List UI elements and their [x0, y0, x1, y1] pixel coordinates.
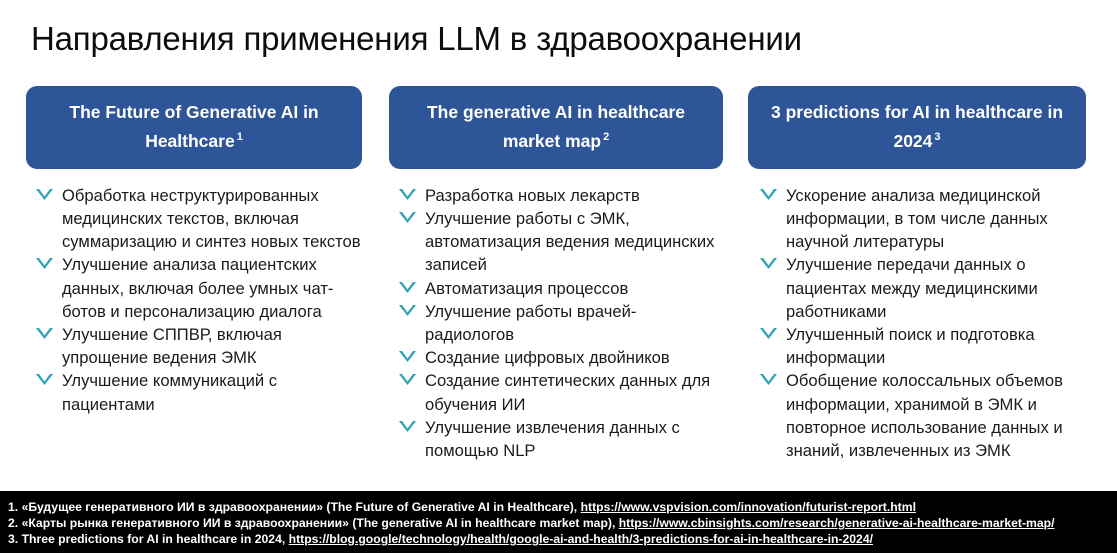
chevron-down-icon [35, 327, 54, 341]
column-3-footnote-ref: 3 [934, 131, 940, 143]
chevron-down-icon [35, 188, 54, 202]
page-title: Направления применения LLM в здравоохран… [31, 17, 1091, 61]
chevron-down-icon [759, 373, 778, 387]
list-item-label: Создание цифровых двойников [425, 348, 670, 367]
list-item: Улучшение работы с ЭМК, автоматизация ве… [389, 207, 723, 277]
column-2-header: The generative AI in healthcare market m… [389, 86, 723, 169]
list-item-label: Улучшение СППВР, включая упрощение веден… [62, 325, 282, 367]
list-item-label: Автоматизация процессов [425, 279, 628, 298]
list-item-label: Обработка неструктурированных медицински… [62, 186, 361, 251]
list-item-label: Улучшение извлечения данных с помощью NL… [425, 418, 680, 460]
column-2: The generative AI in healthcare market m… [389, 86, 723, 462]
list-item: Создание цифровых двойников [389, 346, 723, 369]
list-item-label: Улучшение работы с ЭМК, автоматизация ве… [425, 209, 714, 274]
chevron-down-icon [398, 350, 417, 364]
list-item-label: Улучшение коммуникаций с пациентами [62, 371, 277, 413]
list-item: Улучшение передачи данных о пациентах ме… [748, 253, 1086, 323]
list-item: Улучшение работы врачей-радиологов [389, 300, 723, 346]
column-1: The Future of Generative AI in Healthcar… [26, 86, 362, 416]
footnote-2-link[interactable]: https://www.cbinsights.com/research/gene… [619, 516, 1055, 530]
chevron-down-icon [759, 257, 778, 271]
list-item: Улучшение анализа пациентских данных, вк… [26, 253, 362, 323]
column-1-header-label: The Future of Generative AI in Healthcar… [69, 102, 318, 151]
list-item: Улучшение коммуникаций с пациентами [26, 369, 362, 415]
column-3-header: 3 predictions for AI in healthcare in 20… [748, 86, 1086, 169]
list-item-label: Улучшение передачи данных о пациентах ме… [786, 255, 1038, 320]
footnote-3-link[interactable]: https://blog.google/technology/health/go… [289, 532, 873, 546]
footnote-1-link[interactable]: https://www.vspvision.com/innovation/fut… [581, 500, 916, 514]
footnote-2-text: «Карты рынка генеративного ИИ в здравоох… [22, 516, 619, 530]
list-item: Ускорение анализа медицинской информации… [748, 184, 1086, 254]
column-1-header: The Future of Generative AI in Healthcar… [26, 86, 362, 169]
footnote-1: 1. «Будущее генеративного ИИ в здравоохр… [8, 499, 1117, 515]
footnote-2: 2. «Карты рынка генеративного ИИ в здрав… [8, 515, 1117, 531]
chevron-down-icon [759, 188, 778, 202]
list-item-label: Ускорение анализа медицинской информации… [786, 186, 1048, 251]
list-item: Улучшение СППВР, включая упрощение веден… [26, 323, 362, 369]
chevron-down-icon [398, 211, 417, 225]
column-1-bullet-list: Обработка неструктурированных медицински… [26, 184, 362, 416]
list-item: Улучшенный поиск и подготовка информации [748, 323, 1086, 369]
chevron-down-icon [398, 304, 417, 318]
chevron-down-icon [35, 373, 54, 387]
chevron-down-icon [398, 281, 417, 295]
chevron-down-icon [759, 327, 778, 341]
footnote-3-text: Three predictions for AI in healthcare i… [22, 532, 289, 546]
column-3: 3 predictions for AI in healthcare in 20… [748, 86, 1086, 462]
column-3-header-label: 3 predictions for AI in healthcare in 20… [771, 102, 1063, 151]
column-2-bullet-list: Разработка новых лекарств Улучшение рабо… [389, 184, 723, 462]
column-3-bullet-list: Ускорение анализа медицинской информации… [748, 184, 1086, 462]
list-item: Создание синтетических данных для обучен… [389, 369, 723, 415]
list-item-label: Улучшенный поиск и подготовка информации [786, 325, 1035, 367]
list-item-label: Обобщение колоссальных объемов информаци… [786, 371, 1063, 460]
columns-container: The Future of Generative AI in Healthcar… [0, 86, 1117, 486]
list-item-label: Улучшение работы врачей-радиологов [425, 302, 636, 344]
list-item: Автоматизация процессов [389, 277, 723, 300]
column-2-footnote-ref: 2 [603, 131, 609, 143]
list-item: Разработка новых лекарств [389, 184, 723, 207]
chevron-down-icon [398, 188, 417, 202]
chevron-down-icon [398, 420, 417, 434]
chevron-down-icon [398, 373, 417, 387]
footnote-1-text: «Будущее генеративного ИИ в здравоохране… [22, 500, 581, 514]
list-item: Обработка неструктурированных медицински… [26, 184, 362, 254]
footnote-2-number: 2. [8, 516, 18, 530]
footnotes-bar: 1. «Будущее генеративного ИИ в здравоохр… [0, 491, 1117, 553]
list-item: Улучшение извлечения данных с помощью NL… [389, 416, 723, 462]
chevron-down-icon [35, 257, 54, 271]
list-item-label: Создание синтетических данных для обучен… [425, 371, 710, 413]
footnote-3-number: 3. [8, 532, 18, 546]
list-item-label: Разработка новых лекарств [425, 186, 640, 205]
list-item: Обобщение колоссальных объемов информаци… [748, 369, 1086, 462]
column-1-footnote-ref: 1 [237, 131, 243, 143]
footnote-1-number: 1. [8, 500, 18, 514]
footnote-3: 3. Three predictions for AI in healthcar… [8, 531, 1117, 547]
list-item-label: Улучшение анализа пациентских данных, вк… [62, 255, 333, 320]
column-2-header-label: The generative AI in healthcare market m… [427, 102, 685, 151]
